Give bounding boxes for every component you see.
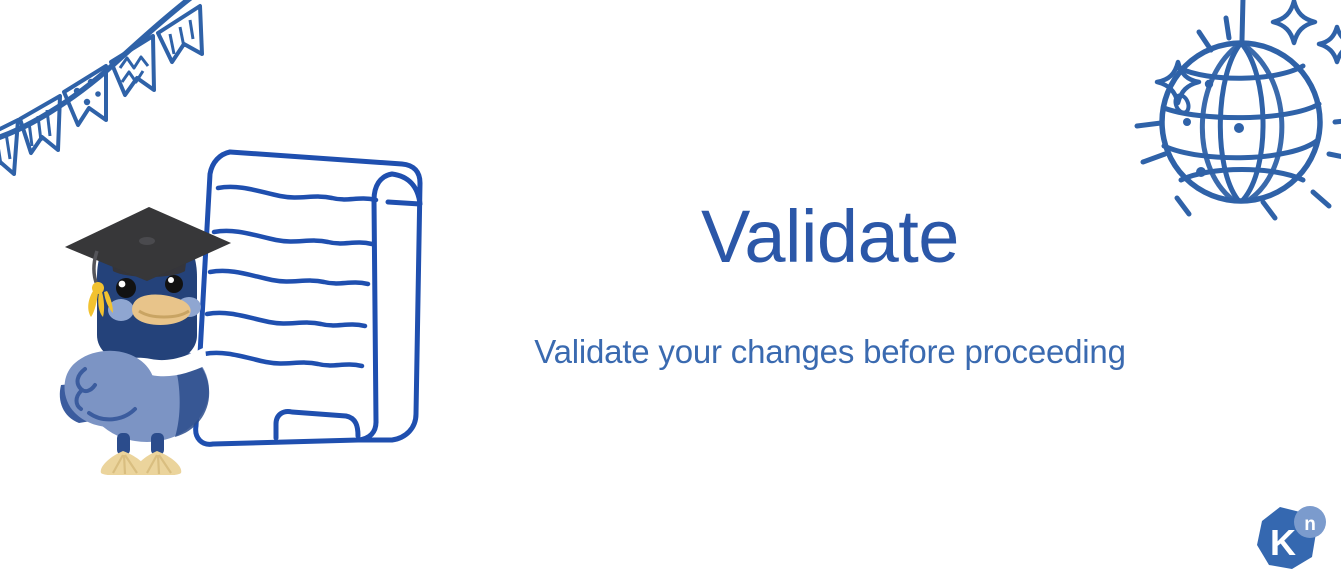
- certificate-scroll-illustration: [180, 138, 470, 458]
- brand-logo: K n: [1252, 503, 1328, 577]
- logo-primary-letter: K: [1270, 522, 1296, 563]
- page-subtitle: Validate your changes before proceeding: [470, 334, 1190, 370]
- text-block: Validate Validate your changes before pr…: [470, 200, 1190, 370]
- page-title: Validate: [470, 200, 1190, 274]
- logo-secondary-letter: n: [1304, 514, 1316, 535]
- graduate-bird-mascot: [55, 185, 240, 475]
- disco-ball-decoration: [1123, 0, 1341, 228]
- bunting-flags-decoration: [0, 0, 234, 182]
- slide-canvas: Validate Validate your changes before pr…: [0, 0, 1341, 585]
